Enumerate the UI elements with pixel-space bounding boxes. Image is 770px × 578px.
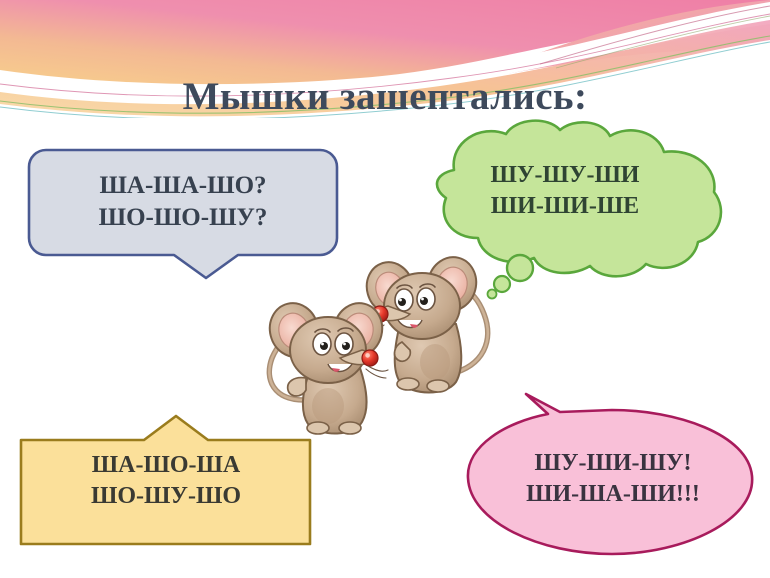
mouse-left-pupil-left <box>320 342 328 350</box>
mouse-left-nose-glint <box>365 353 370 358</box>
mouse-left-foot-right <box>339 422 361 434</box>
mouse-right-pupil-right <box>420 297 428 305</box>
bubble-green-trail-circle-1 <box>507 255 533 281</box>
wave-hairline-right-1 <box>540 6 770 64</box>
mouse-right-eye-glint-left <box>399 299 402 302</box>
mouse-left-belly-shade <box>312 388 344 424</box>
mouse-left-whisker-1 <box>368 366 388 371</box>
mouse-right-foot-left <box>397 378 419 390</box>
slide-canvas: Мышки зашептались: ША-ША-ШО? ШО-ШО-ШУ? Ш… <box>0 0 770 578</box>
mouse-left-nose <box>362 350 378 366</box>
mouse-left-eye-glint-left <box>321 343 324 346</box>
mouse-right-belly-shade <box>420 344 450 380</box>
bubble-pink-shape <box>468 394 752 554</box>
speech-bubble-pink[interactable] <box>462 392 762 560</box>
mouse-left-pupil-right <box>342 342 350 350</box>
mouse-left-paw-waving <box>288 378 306 396</box>
bubble-yellow-shape <box>21 416 310 544</box>
mouse-left-eye-glint-right <box>343 343 346 346</box>
wave-band-primary <box>0 0 770 84</box>
wave-hairline-right-2 <box>556 16 770 68</box>
speech-bubble-yellow[interactable] <box>16 412 316 552</box>
mouse-right-eye-glint-right <box>421 298 424 301</box>
page-title: Мышки зашептались: <box>0 74 770 119</box>
mouse-right-pupil-left <box>398 298 406 306</box>
mouse-right-foot-right <box>427 380 449 392</box>
wave-band-crimson <box>470 0 770 80</box>
